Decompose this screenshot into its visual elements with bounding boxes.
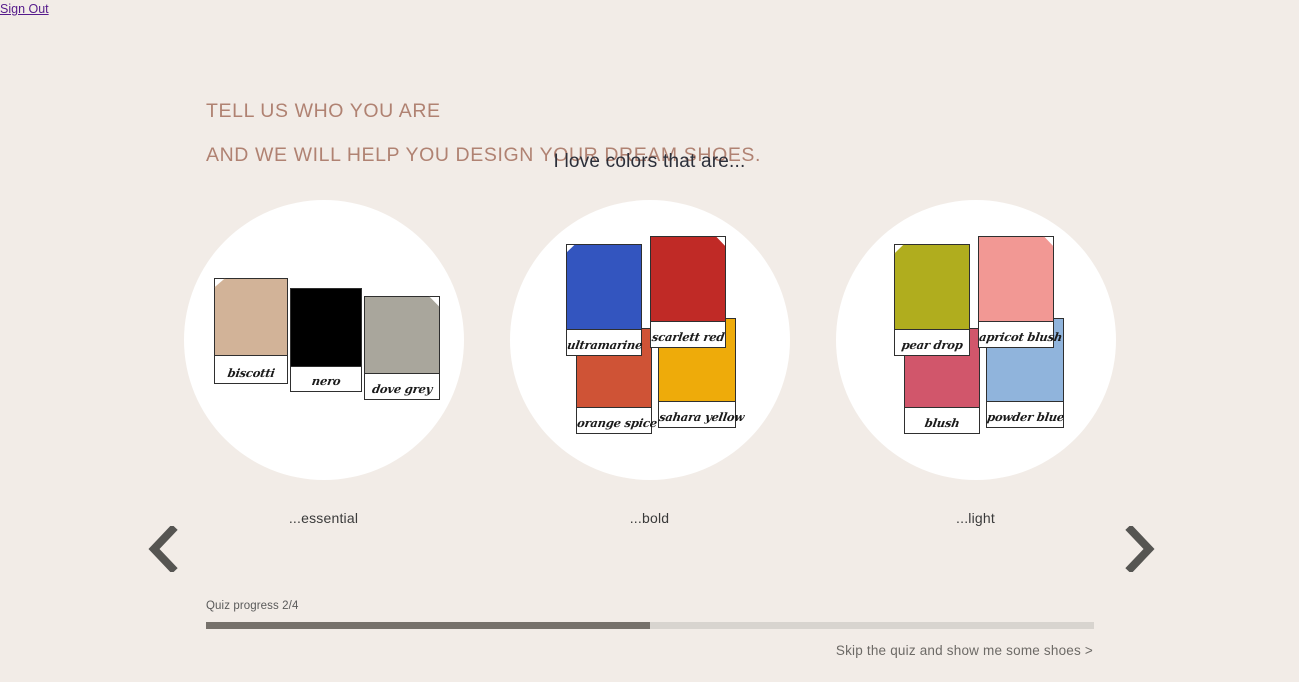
carousel-options: biscotti nero dove grey ...essential ult… bbox=[0, 200, 1299, 526]
swatch-name: scarlett red bbox=[649, 330, 726, 347]
swatch-card: apricot blush bbox=[978, 236, 1054, 348]
swatch-card: biscotti bbox=[214, 278, 288, 384]
swatch-color-chip bbox=[978, 236, 1054, 322]
swatch-name: apricot blush bbox=[977, 330, 1054, 347]
swatch-name: orange spice bbox=[575, 416, 652, 433]
swatch-card: ultramarine bbox=[566, 244, 642, 356]
account-bar: Sign Out bbox=[0, 0, 49, 18]
option-bold[interactable]: ultramarine scarlett red orange spice sa… bbox=[498, 200, 802, 526]
quiz-question: I love colors that are... bbox=[0, 151, 1299, 173]
swatch-color-chip bbox=[650, 236, 726, 322]
swatch-name: blush bbox=[903, 416, 980, 433]
swatch-name: biscotti bbox=[213, 366, 288, 383]
option-light-artwork: pear drop apricot blush blush powder blu… bbox=[836, 200, 1116, 480]
swatch-card: pear drop bbox=[894, 244, 970, 356]
swatch-card: dove grey bbox=[364, 296, 440, 400]
swatch-color-chip bbox=[290, 288, 362, 367]
option-bold-label: ...bold bbox=[630, 510, 670, 526]
page-title-line-1: TELL US WHO YOU ARE bbox=[206, 100, 761, 122]
swatch-name: dove grey bbox=[363, 382, 440, 399]
option-light[interactable]: pear drop apricot blush blush powder blu… bbox=[824, 200, 1128, 526]
swatch-name: pear drop bbox=[893, 338, 970, 355]
swatch-color-chip bbox=[214, 278, 288, 356]
option-essential[interactable]: biscotti nero dove grey ...essential bbox=[172, 200, 476, 526]
option-bold-artwork: ultramarine scarlett red orange spice sa… bbox=[510, 200, 790, 480]
quiz-progress-label: Quiz progress 2/4 bbox=[206, 600, 1094, 612]
option-essential-artwork: biscotti nero dove grey bbox=[184, 200, 464, 480]
option-essential-label: ...essential bbox=[289, 510, 358, 526]
chevron-right-icon bbox=[1125, 526, 1155, 572]
skip-quiz-link[interactable]: Skip the quiz and show me some shoes > bbox=[836, 643, 1093, 658]
swatch-name: powder blue bbox=[985, 410, 1064, 427]
carousel-prev-button[interactable] bbox=[140, 518, 186, 580]
swatch-card: scarlett red bbox=[650, 236, 726, 348]
swatch-name: sahara yellow bbox=[657, 410, 736, 427]
swatch-color-chip bbox=[566, 244, 642, 330]
progress-bar-fill bbox=[206, 622, 650, 629]
quiz-progress: Quiz progress 2/4 bbox=[206, 600, 1094, 629]
swatch-name: nero bbox=[289, 374, 362, 391]
sign-out-link[interactable]: Sign Out bbox=[0, 2, 49, 16]
swatch-color-chip bbox=[364, 296, 440, 374]
quiz-carousel: biscotti nero dove grey ...essential ult… bbox=[0, 200, 1299, 500]
swatch-name: ultramarine bbox=[565, 338, 642, 355]
progress-bar-track bbox=[206, 622, 1094, 629]
carousel-next-button[interactable] bbox=[1117, 518, 1163, 580]
option-light-label: ...light bbox=[956, 510, 995, 526]
swatch-color-chip bbox=[894, 244, 970, 330]
swatch-card: nero bbox=[290, 288, 362, 392]
chevron-left-icon bbox=[148, 526, 178, 572]
